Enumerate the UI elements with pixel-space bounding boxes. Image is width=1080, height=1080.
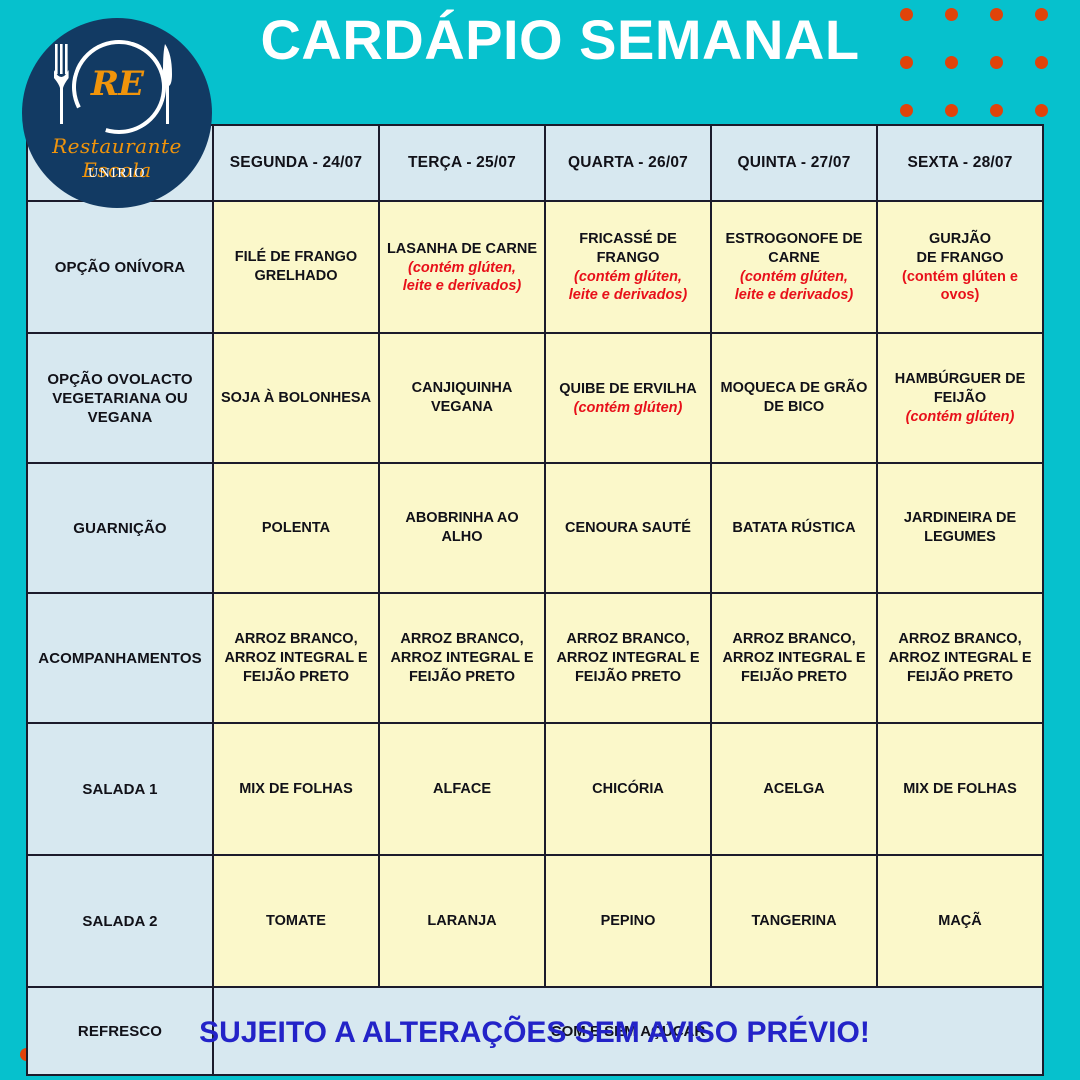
menu-cell: ARROZ BRANCO,ARROZ INTEGRAL EFEIJÃO PRET… bbox=[711, 593, 877, 723]
row-label: OPÇÃO ONÍVORA bbox=[27, 201, 213, 333]
decorative-dot bbox=[990, 56, 1003, 69]
dish-name: FILÉ DE FRANGOGRELHADO bbox=[219, 248, 373, 286]
day-header-5: SEXTA - 28/07 bbox=[877, 125, 1043, 201]
table-row: OPÇÃO ONÍVORAFILÉ DE FRANGOGRELHADOLASAN… bbox=[27, 201, 1043, 333]
menu-cell: LARANJA bbox=[379, 855, 545, 987]
dish-name: MOQUECA DE GRÃODE BICO bbox=[717, 379, 871, 417]
menu-cell: POLENTA bbox=[213, 463, 379, 593]
menu-cell: ABOBRINHA AOALHO bbox=[379, 463, 545, 593]
row-label: SALADA 2 bbox=[27, 855, 213, 987]
allergen-note: (contém glúten eovos) bbox=[883, 268, 1037, 304]
allergen-note: (contém glúten,leite e derivados) bbox=[717, 268, 871, 304]
dish-name: ACELGA bbox=[717, 780, 871, 799]
dish-name: FRICASSÉ DEFRANGO bbox=[551, 230, 705, 268]
dish-name: HAMBÚRGUER DEFEIJÃO bbox=[883, 370, 1037, 408]
dish-name: PEPINO bbox=[551, 912, 705, 931]
menu-cell: CHICÓRIA bbox=[545, 723, 711, 855]
menu-cell: ESTROGONOFE DECARNE(contém glúten,leite … bbox=[711, 201, 877, 333]
menu-cell: MOQUECA DE GRÃODE BICO bbox=[711, 333, 877, 463]
dish-name: LARANJA bbox=[385, 912, 539, 931]
dish-name: GURJÃODE FRANGO bbox=[883, 230, 1037, 268]
menu-cell: MAÇÃ bbox=[877, 855, 1043, 987]
decorative-dot bbox=[945, 56, 958, 69]
dish-name: MIX DE FOLHAS bbox=[219, 780, 373, 799]
table-row: OPÇÃO OVOLACTOVEGETARIANA OUVEGANASOJA À… bbox=[27, 333, 1043, 463]
menu-cell: HAMBÚRGUER DEFEIJÃO(contém glúten) bbox=[877, 333, 1043, 463]
dish-name: ARROZ BRANCO,ARROZ INTEGRAL EFEIJÃO PRET… bbox=[385, 630, 539, 687]
menu-cell: ARROZ BRANCO,ARROZ INTEGRAL EFEIJÃO PRET… bbox=[213, 593, 379, 723]
weekly-menu-table: SEGUNDA - 24/07TERÇA - 25/07QUARTA - 26/… bbox=[26, 124, 1044, 1076]
dish-name: ARROZ BRANCO,ARROZ INTEGRAL EFEIJÃO PRET… bbox=[219, 630, 373, 687]
dish-name: LASANHA DE CARNE bbox=[385, 240, 539, 259]
allergen-note: (contém glúten) bbox=[883, 408, 1037, 426]
menu-cell: ARROZ BRANCO,ARROZ INTEGRAL EFEIJÃO PRET… bbox=[379, 593, 545, 723]
dish-name: CHICÓRIA bbox=[551, 780, 705, 799]
row-label: ACOMPANHAMENTOS bbox=[27, 593, 213, 723]
decorative-dot bbox=[1035, 104, 1048, 117]
decorative-dot bbox=[990, 104, 1003, 117]
dish-name: BATATA RÚSTICA bbox=[717, 519, 871, 538]
page-title: CARDÁPIO SEMANAL bbox=[215, 6, 905, 74]
decorative-dot bbox=[900, 56, 913, 69]
decorative-dot bbox=[900, 8, 913, 21]
menu-cell: TOMATE bbox=[213, 855, 379, 987]
row-label: OPÇÃO OVOLACTOVEGETARIANA OUVEGANA bbox=[27, 333, 213, 463]
dish-name: TANGERINA bbox=[717, 912, 871, 931]
row-label: GUARNIÇÃO bbox=[27, 463, 213, 593]
decorative-dot bbox=[945, 104, 958, 117]
dish-name: SOJA À BOLONHESA bbox=[219, 389, 373, 408]
menu-cell: FRICASSÉ DEFRANGO(contém glúten,leite e … bbox=[545, 201, 711, 333]
table-row: SALADA 2TOMATELARANJAPEPINOTANGERINAMAÇÃ bbox=[27, 855, 1043, 987]
dish-name: ESTROGONOFE DECARNE bbox=[717, 230, 871, 268]
allergen-note: (contém glúten,leite e derivados) bbox=[551, 268, 705, 304]
menu-cell: MIX DE FOLHAS bbox=[213, 723, 379, 855]
row-label: SALADA 1 bbox=[27, 723, 213, 855]
allergen-note: (contém glúten) bbox=[551, 399, 705, 417]
dish-name: JARDINEIRA DELEGUMES bbox=[883, 509, 1037, 547]
dish-name: ARROZ BRANCO,ARROZ INTEGRAL EFEIJÃO PRET… bbox=[883, 630, 1037, 687]
menu-cell: LASANHA DE CARNE(contém glúten,leite e d… bbox=[379, 201, 545, 333]
table-row: SALADA 1MIX DE FOLHASALFACECHICÓRIAACELG… bbox=[27, 723, 1043, 855]
disclaimer-note: SUJEITO A ALTERAÇÕES SEM AVISO PRÉVIO! bbox=[26, 1016, 1043, 1050]
dish-name: ALFACE bbox=[385, 780, 539, 799]
dish-name: CENOURA SAUTÉ bbox=[551, 519, 705, 538]
menu-cell: FILÉ DE FRANGOGRELHADO bbox=[213, 201, 379, 333]
dish-name: TOMATE bbox=[219, 912, 373, 931]
logo-institution: UNIRIO bbox=[22, 166, 212, 182]
decorative-dot bbox=[900, 104, 913, 117]
day-header-1: SEGUNDA - 24/07 bbox=[213, 125, 379, 201]
day-header-4: QUINTA - 27/07 bbox=[711, 125, 877, 201]
restaurant-logo: RE Restaurante Escola UNIRIO bbox=[22, 18, 212, 208]
menu-cell: CANJIQUINHAVEGANA bbox=[379, 333, 545, 463]
menu-cell: JARDINEIRA DELEGUMES bbox=[877, 463, 1043, 593]
dish-name: ARROZ BRANCO,ARROZ INTEGRAL EFEIJÃO PRET… bbox=[551, 630, 705, 687]
decorative-dot bbox=[1035, 56, 1048, 69]
menu-cell: GURJÃODE FRANGO(contém glúten eovos) bbox=[877, 201, 1043, 333]
menu-cell: ARROZ BRANCO,ARROZ INTEGRAL EFEIJÃO PRET… bbox=[545, 593, 711, 723]
menu-cell: CENOURA SAUTÉ bbox=[545, 463, 711, 593]
dish-name: QUIBE DE ERVILHA bbox=[551, 380, 705, 399]
dish-name: POLENTA bbox=[219, 519, 373, 538]
allergen-note: (contém glúten,leite e derivados) bbox=[385, 259, 539, 295]
decorative-dot bbox=[945, 8, 958, 21]
decorative-dot bbox=[1035, 8, 1048, 21]
dish-name: CANJIQUINHAVEGANA bbox=[385, 379, 539, 417]
menu-cell: ARROZ BRANCO,ARROZ INTEGRAL EFEIJÃO PRET… bbox=[877, 593, 1043, 723]
dish-name: MAÇÃ bbox=[883, 912, 1037, 931]
dish-name: ARROZ BRANCO,ARROZ INTEGRAL EFEIJÃO PRET… bbox=[717, 630, 871, 687]
dot-grid-top-right bbox=[900, 8, 1080, 123]
menu-cell: ACELGA bbox=[711, 723, 877, 855]
table-row: GUARNIÇÃOPOLENTAABOBRINHA AOALHOCENOURA … bbox=[27, 463, 1043, 593]
table-row: ACOMPANHAMENTOSARROZ BRANCO,ARROZ INTEGR… bbox=[27, 593, 1043, 723]
menu-cell: QUIBE DE ERVILHA(contém glúten) bbox=[545, 333, 711, 463]
dish-name: ABOBRINHA AOALHO bbox=[385, 509, 539, 547]
knife-icon bbox=[160, 44, 176, 124]
dish-name: MIX DE FOLHAS bbox=[883, 780, 1037, 799]
menu-cell: PEPINO bbox=[545, 855, 711, 987]
day-header-3: QUARTA - 26/07 bbox=[545, 125, 711, 201]
decorative-dot bbox=[990, 8, 1003, 21]
menu-cell: SOJA À BOLONHESA bbox=[213, 333, 379, 463]
day-header-2: TERÇA - 25/07 bbox=[379, 125, 545, 201]
logo-monogram: RE bbox=[22, 64, 212, 104]
table-body: OPÇÃO ONÍVORAFILÉ DE FRANGOGRELHADOLASAN… bbox=[27, 201, 1043, 1075]
menu-cell: BATATA RÚSTICA bbox=[711, 463, 877, 593]
menu-cell: TANGERINA bbox=[711, 855, 877, 987]
menu-cell: ALFACE bbox=[379, 723, 545, 855]
menu-cell: MIX DE FOLHAS bbox=[877, 723, 1043, 855]
